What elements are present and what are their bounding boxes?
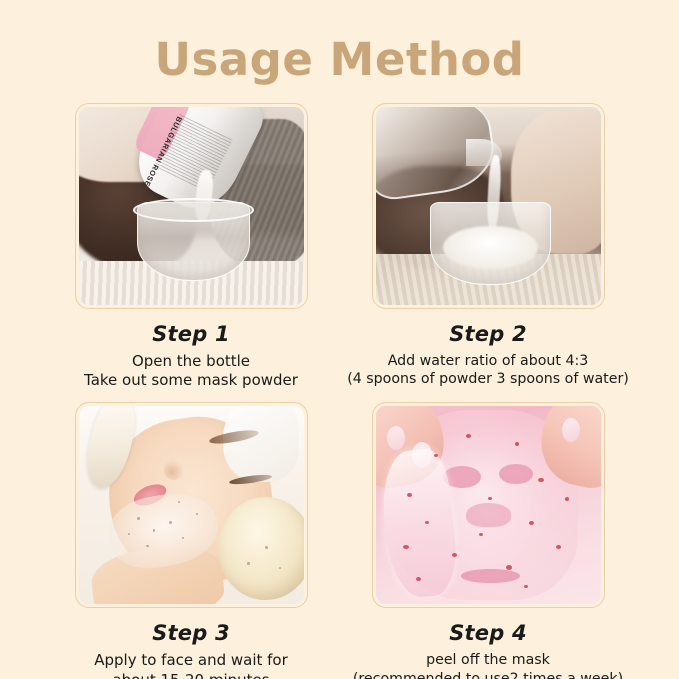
step-4-caption: peel off the mask (recommended to use2 t… [353,651,623,679]
step-2-photo-frame [373,104,604,308]
hairband-shape [223,406,300,481]
step-2-caption-line-2: (4 spoons of powder 3 spoons of water) [347,370,629,388]
rose-petal-fleck [434,454,438,457]
step-1-photo-frame: BULGARIAN ROSE [76,104,307,308]
step-2-caption: Add water ratio of about 4:3 (4 spoons o… [347,352,629,388]
rose-petal-fleck [515,442,519,446]
photo-peeling-mask [376,406,601,604]
mask-mouth-opening [461,569,520,583]
rose-petal-fleck [452,553,457,557]
photo-bottle-pouring-powder: BULGARIAN ROSE [79,107,304,305]
mask-speck [153,529,156,532]
glass-bowl-rim [133,198,255,222]
powder-in-bowl [443,226,538,270]
step-4-photo-frame [373,403,604,607]
mask-nose-opening [466,503,511,527]
rose-petal-fleck [524,585,528,588]
photo-pouring-water [376,107,601,305]
step-4-caption-line-1: peel off the mask [353,651,623,669]
nose-shape [164,460,184,480]
bowl-speck [247,562,250,565]
steps-row-bottom: Step 3 Apply to face and wait for about … [0,403,679,679]
mask-eye-opening-left [443,466,481,488]
bowl-speck [279,567,281,569]
mask-speck [169,521,172,524]
bowl-speck [265,546,268,549]
step-2-heading: Step 2 [449,322,527,346]
step-3-heading: Step 3 [152,621,230,645]
rose-petal-fleck [403,545,409,549]
step-2-caption-line-1: Add water ratio of about 4:3 [347,352,629,370]
steps-grid: BULGARIAN ROSE Step 1 Open the bottle Ta… [0,104,679,679]
mask-speck [196,513,198,515]
step-3-caption-line-2: about 15-20 minutes [94,671,288,679]
rose-petal-fleck [466,434,471,438]
rose-petal-fleck [416,577,421,581]
rose-petal-fleck [556,545,561,549]
rose-petal-fleck [529,521,534,525]
step-1-caption-line-2: Take out some mask powder [84,371,298,390]
step-1-heading: Step 1 [152,322,230,346]
step-3-photo-frame [76,403,307,607]
usage-method-infographic: Usage Method BULGARIAN ROSE [0,0,679,679]
fingernail [387,426,405,450]
step-1-caption-line-1: Open the bottle [84,352,298,371]
step-card-3: Step 3 Apply to face and wait for about … [76,403,307,679]
rose-petal-fleck [538,478,544,482]
step-1-caption: Open the bottle Take out some mask powde… [84,352,298,390]
photo-applying-mask [79,406,304,604]
rose-petal-fleck [506,565,512,570]
step-card-1: BULGARIAN ROSE Step 1 Open the bottle Ta… [76,104,307,390]
step-3-caption-line-1: Apply to face and wait for [94,651,288,670]
page-title: Usage Method [0,34,679,86]
step-4-heading: Step 4 [449,621,527,645]
step-4-caption-line-2: (recommended to use2 times a week) [353,670,623,679]
step-card-4: Step 4 peel off the mask (recommended to… [373,403,604,679]
step-3-caption: Apply to face and wait for about 15-20 m… [94,651,288,679]
step-card-2: Step 2 Add water ratio of about 4:3 (4 s… [373,104,604,390]
mask-eye-opening-right [499,464,533,484]
steps-row-top: BULGARIAN ROSE Step 1 Open the bottle Ta… [0,104,679,390]
